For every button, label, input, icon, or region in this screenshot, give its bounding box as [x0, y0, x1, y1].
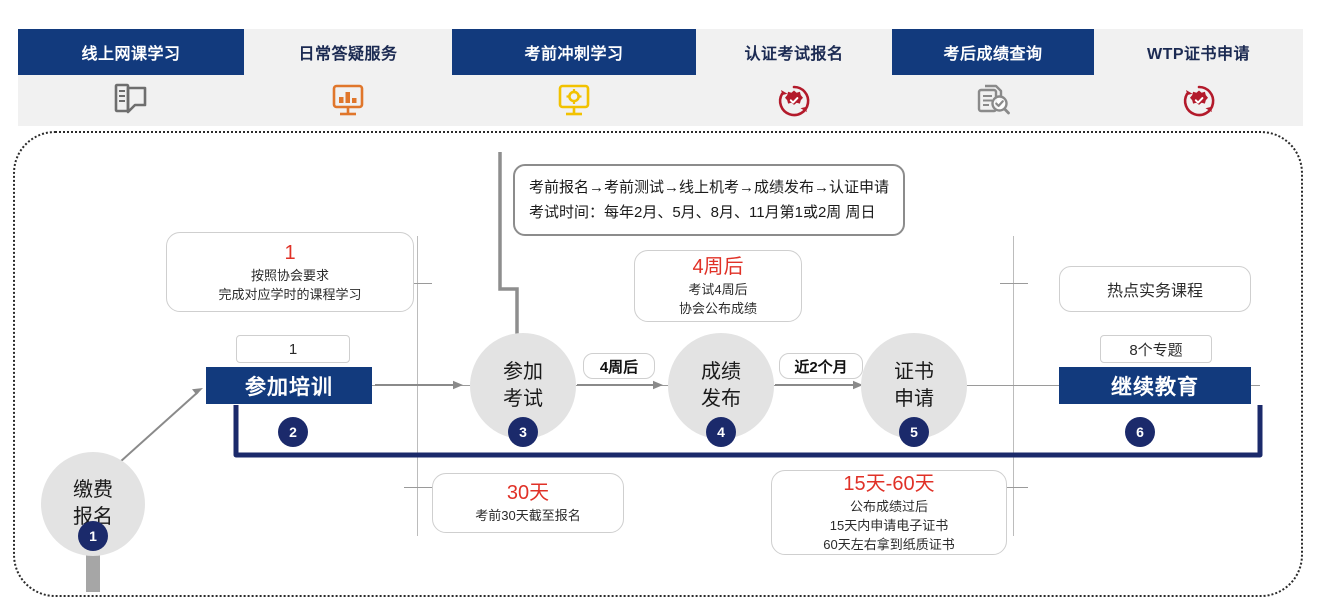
tab-label: WTP证书申请 — [1147, 40, 1250, 64]
note-result-big: 4周后 — [692, 255, 743, 280]
tab-label: 线上网课学习 — [81, 40, 180, 64]
hot-practice-course-box[interactable]: 热点实务课程 — [1059, 266, 1251, 312]
monitor-chart-icon — [244, 75, 452, 126]
badge-step-4: 4 — [706, 417, 736, 447]
hot-practice-course-label: 热点实务课程 — [1107, 277, 1203, 301]
badge-label: 4 — [717, 424, 725, 440]
tab-label: 考前冲刺学习 — [524, 40, 623, 64]
note-result-line2: 协会公布成绩 — [679, 299, 757, 318]
node-continuing-education[interactable]: 继续教育 — [1059, 367, 1251, 404]
badge-label: 5 — [910, 424, 918, 440]
tab-online-course[interactable]: 线上网课学习 — [18, 29, 244, 75]
badge-label: 1 — [89, 528, 97, 544]
training-count-box: 1 — [236, 335, 350, 363]
arrow-label-text: 4周后 — [600, 356, 638, 377]
arrow-label-publish-to-apply: 近2个月 — [779, 353, 863, 379]
guide-tick-b — [404, 487, 432, 488]
certified-badge-icon — [1094, 75, 1303, 126]
note-result-line1: 考试4周后 — [688, 280, 747, 299]
badge-step-1: 1 — [78, 521, 108, 551]
tab-label: 日常答疑服务 — [298, 40, 397, 64]
node-apply-line1: 证书 — [894, 359, 934, 386]
process-tab-strip: 线上网课学习 日常答疑服务 考前冲刺学习 认证考试报名 考后成绩查询 WTP证书… — [18, 29, 1303, 126]
badge-step-5: 5 — [899, 417, 929, 447]
tab-wtp-certificate[interactable]: WTP证书申请 — [1094, 29, 1303, 75]
note-certificate-big: 15天-60天 — [843, 472, 934, 497]
arrow-label-exam-to-publish: 4周后 — [583, 353, 655, 379]
note-certificate-line2: 15天内申请电子证书 — [830, 516, 948, 535]
note-deadline-big: 30天 — [507, 481, 549, 506]
tab-exam-registration[interactable]: 认证考试报名 — [696, 29, 892, 75]
diagram-page: 线上网课学习 日常答疑服务 考前冲刺学习 认证考试报名 考后成绩查询 WTP证书… — [0, 0, 1321, 599]
node-training-label: 参加培训 — [245, 371, 333, 401]
document-search-icon — [892, 75, 1094, 126]
note-deadline-line1: 考前30天截至报名 — [475, 506, 580, 525]
topic-count-label: 8个专题 — [1129, 339, 1182, 360]
tab-daily-qa[interactable]: 日常答疑服务 — [244, 29, 452, 75]
badge-label: 2 — [289, 424, 297, 440]
node-pay-line1: 缴费 — [73, 477, 113, 504]
badge-label: 6 — [1136, 424, 1144, 440]
exam-process-line2: 考试时间：每年2月、5月、8月、11月第1或2周 周日 — [529, 200, 889, 225]
note-result-timing: 4周后 考试4周后 协会公布成绩 — [634, 250, 802, 322]
monitor-gear-icon — [452, 75, 696, 126]
node-continue-label: 继续教育 — [1111, 371, 1199, 401]
tab-pre-exam-sprint[interactable]: 考前冲刺学习 — [452, 29, 696, 75]
badge-step-2: 2 — [278, 417, 308, 447]
guide-line-left — [417, 236, 418, 536]
arrow-label-text: 近2个月 — [794, 356, 847, 377]
guide-tick-c — [1000, 283, 1028, 284]
topic-count-box: 8个专题 — [1100, 335, 1212, 363]
badge-label: 3 — [519, 424, 527, 440]
badge-step-6: 6 — [1125, 417, 1155, 447]
node-exam-line1: 参加 — [503, 359, 543, 386]
note-training-requirement: 1 按照协会要求 完成对应学时的课程学习 — [166, 232, 414, 312]
tab-label: 认证考试报名 — [744, 40, 843, 64]
badge-step-3: 3 — [508, 417, 538, 447]
node-attend-training[interactable]: 参加培训 — [206, 367, 372, 404]
guide-line-right — [1013, 236, 1014, 536]
note-certificate-line1: 公布成绩过后 — [850, 497, 928, 516]
note-training-big: 1 — [284, 241, 295, 266]
node-publish-line2: 发布 — [701, 386, 741, 413]
certified-badge-icon — [696, 75, 892, 126]
note-training-line1: 按照协会要求 — [251, 266, 329, 285]
exam-process-line1: 考前报名→考前测试→线上机考→成绩发布→认证申请 — [529, 175, 889, 200]
exam-process-callout: 考前报名→考前测试→线上机考→成绩发布→认证申请 考试时间：每年2月、5月、8月… — [513, 164, 905, 236]
tab-score-query[interactable]: 考后成绩查询 — [892, 29, 1094, 75]
tab-label: 考后成绩查询 — [943, 40, 1042, 64]
node-apply-line2: 申请 — [894, 386, 934, 413]
note-registration-deadline: 30天 考前30天截至报名 — [432, 473, 624, 533]
note-certificate-line3: 60天左右拿到纸质证书 — [823, 535, 954, 554]
note-training-line2: 完成对应学时的课程学习 — [218, 285, 361, 304]
book-screen-icon — [18, 75, 244, 126]
node-exam-line2: 考试 — [503, 386, 543, 413]
node-publish-line1: 成绩 — [701, 359, 741, 386]
note-certificate-timing: 15天-60天 公布成绩过后 15天内申请电子证书 60天左右拿到纸质证书 — [771, 470, 1007, 555]
training-count-label: 1 — [289, 341, 297, 358]
